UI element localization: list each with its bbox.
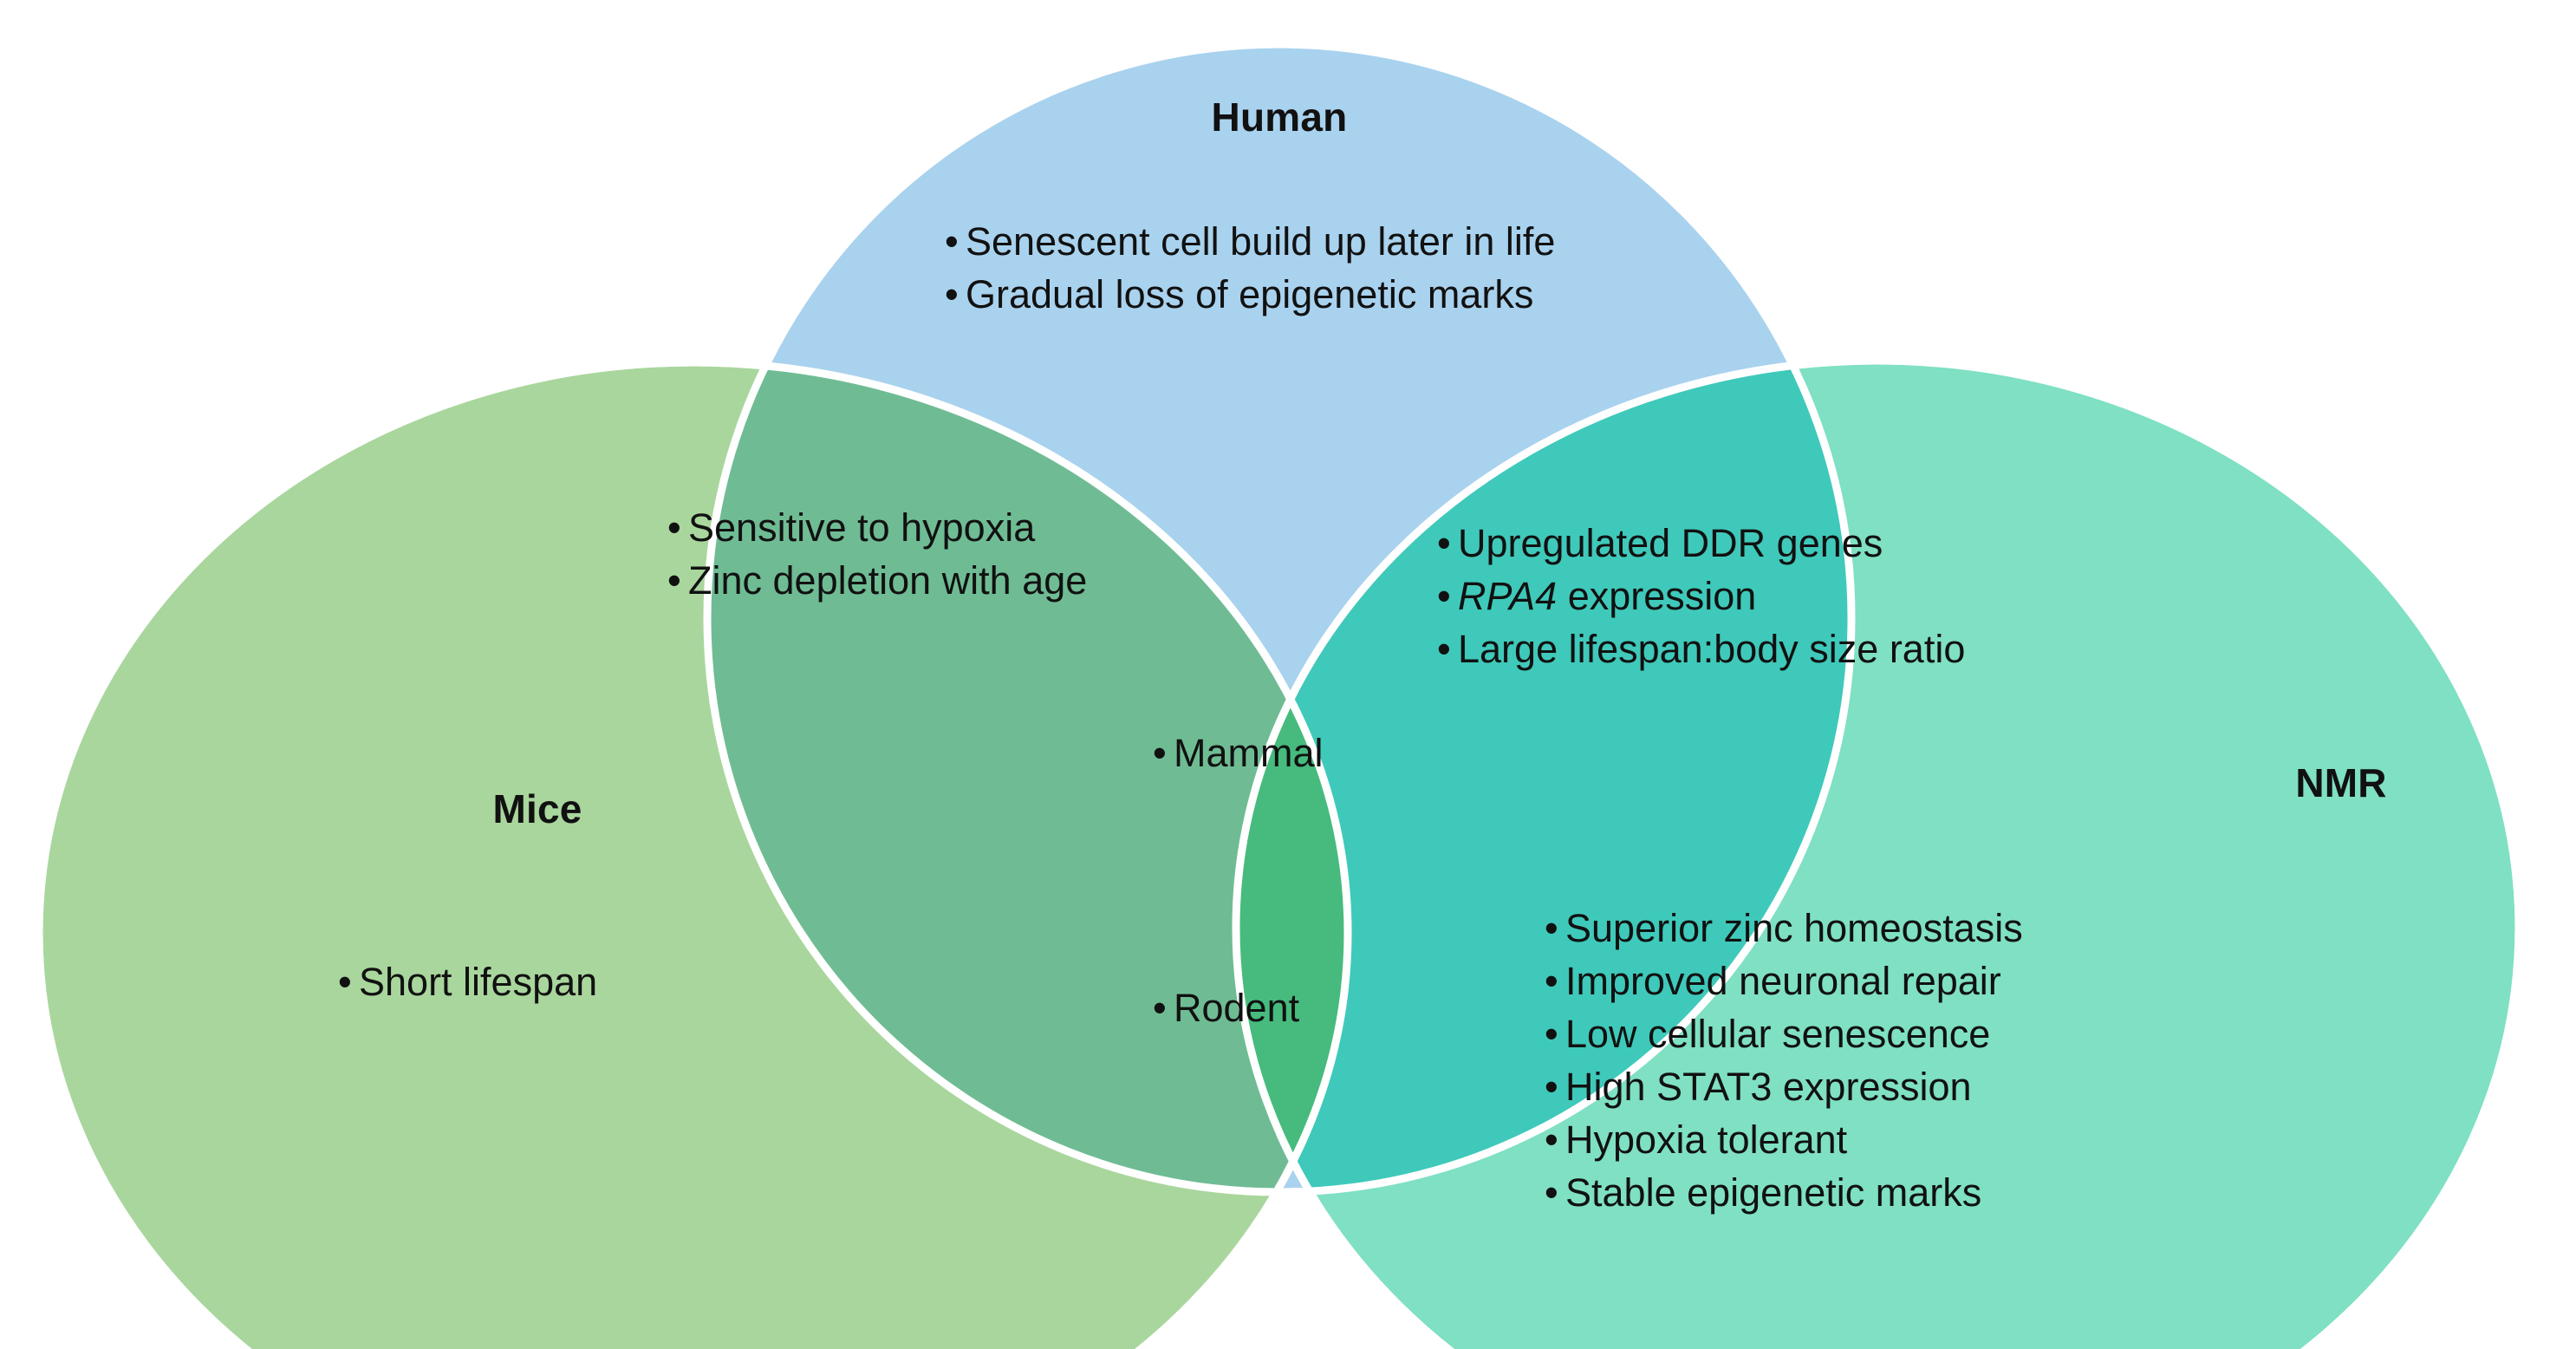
list-item: •Sensitive to hypoxia	[667, 501, 1087, 554]
bullet-icon: •	[1437, 570, 1458, 622]
list-item-label: Improved neuronal repair	[1565, 959, 2001, 1003]
list-item: •Hypoxia tolerant	[1545, 1113, 2023, 1166]
region-mice-only-list: •Short lifespan	[338, 955, 597, 1008]
list-item: •Superior zinc homeostasis	[1545, 902, 2023, 955]
list-item: •RPA4 expression	[1437, 570, 1965, 622]
list-item: •Low cellular senescence	[1545, 1007, 2023, 1060]
list-item-label: Hypoxia tolerant	[1565, 1118, 1847, 1162]
region-nmr-only-list: •Superior zinc homeostasis •Improved neu…	[1545, 902, 2023, 1219]
set-title-human: Human	[1212, 94, 1348, 140]
bullet-icon: •	[1545, 902, 1565, 955]
region-human-nmr-list: •Upregulated DDR genes •RPA4 expression …	[1437, 517, 1965, 675]
list-item-label: expression	[1557, 574, 1756, 618]
bullet-icon: •	[945, 215, 966, 268]
list-item-label: Mammal	[1174, 731, 1324, 775]
region-human-mice-list: •Sensitive to hypoxia •Zinc depletion wi…	[667, 501, 1087, 607]
bullet-icon: •	[1545, 955, 1565, 1007]
list-item: •High STAT3 expression	[1545, 1060, 2023, 1113]
bullet-icon: •	[1437, 622, 1458, 675]
list-item: •Improved neuronal repair	[1545, 955, 2023, 1007]
venn-svg	[0, 0, 2576, 1349]
list-item-label: Short lifespan	[359, 960, 597, 1004]
bullet-icon: •	[1545, 1113, 1565, 1166]
list-item-label: Large lifespan:body size ratio	[1458, 627, 1965, 671]
list-item: •Gradual loss of epigenetic marks	[945, 268, 1555, 321]
region-all-three-list: •Mammal	[1153, 727, 1324, 779]
bullet-icon: •	[945, 268, 966, 321]
bullet-icon: •	[338, 955, 359, 1008]
list-item: •Large lifespan:body size ratio	[1437, 622, 1965, 675]
list-item: •Senescent cell build up later in life	[945, 215, 1555, 268]
list-item-label: Sensitive to hypoxia	[688, 505, 1035, 550]
region-human-only-list: •Senescent cell build up later in life •…	[945, 215, 1555, 321]
list-item-label: Superior zinc homeostasis	[1565, 906, 2023, 950]
list-item-label: Rodent	[1174, 986, 1299, 1030]
bullet-icon: •	[1437, 517, 1458, 570]
list-item-label: Gradual loss of epigenetic marks	[966, 272, 1533, 316]
bullet-icon: •	[1545, 1166, 1565, 1219]
set-title-mice: Mice	[492, 785, 582, 832]
list-item: •Short lifespan	[338, 955, 597, 1008]
list-item-label: Low cellular senescence	[1565, 1012, 1990, 1056]
list-item: •Stable epigenetic marks	[1545, 1166, 2023, 1219]
set-title-nmr: NMR	[2295, 759, 2386, 806]
list-item: •Rodent	[1153, 981, 1299, 1034]
list-item-label: High STAT3 expression	[1565, 1065, 1972, 1109]
list-item-label: Senescent cell build up later in life	[966, 219, 1555, 264]
bullet-icon: •	[1153, 981, 1174, 1034]
bullet-icon: •	[1545, 1007, 1565, 1060]
list-item-label: Stable epigenetic marks	[1565, 1170, 1981, 1215]
venn-diagram: Human Mice NMR •Senescent cell build up …	[0, 0, 2576, 1349]
list-item-label: Zinc depletion with age	[688, 558, 1087, 603]
list-item: •Mammal	[1153, 727, 1324, 779]
bullet-icon: •	[667, 501, 688, 554]
bullet-icon: •	[1153, 727, 1174, 779]
list-item: •Zinc depletion with age	[667, 554, 1087, 607]
list-item-label: Upregulated DDR genes	[1458, 521, 1883, 565]
bullet-icon: •	[667, 554, 688, 607]
gene-name-rpa4: RPA4	[1458, 574, 1557, 618]
list-item: •Upregulated DDR genes	[1437, 517, 1965, 570]
bullet-icon: •	[1545, 1060, 1565, 1113]
region-mice-nmr-list: •Rodent	[1153, 981, 1299, 1034]
